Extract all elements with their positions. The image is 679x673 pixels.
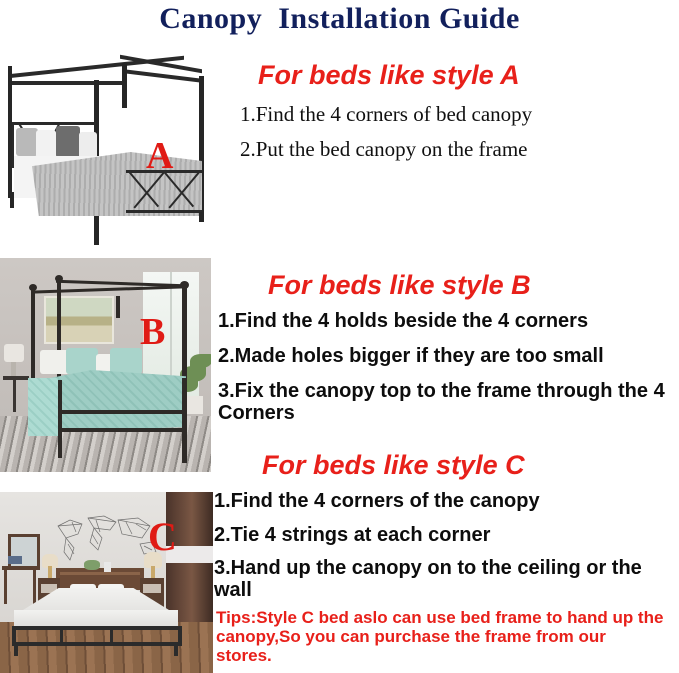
style-b-photo: B xyxy=(0,258,211,472)
style-a-photo: A xyxy=(0,52,215,257)
style-b-step-1: 1.Find the 4 holds beside the 4 corners xyxy=(218,310,588,333)
style-a-heading: For beds like style A xyxy=(258,60,520,91)
style-c-step-1: 1.Find the 4 corners of the canopy xyxy=(214,490,540,513)
style-a-step-2: 2.Put the bed canopy on the frame xyxy=(240,137,528,162)
style-c-tips: Tips:Style C bed aslo can use bed frame … xyxy=(216,608,666,665)
style-c-step-2: 2.Tie 4 strings at each corner xyxy=(214,524,490,547)
style-c-photo: C xyxy=(0,492,213,673)
style-c-badge: C xyxy=(148,517,177,557)
style-b-step-3: 3.Fix the canopy top to the frame throug… xyxy=(218,381,670,424)
style-b-step-2: 2.Made holes bigger if they are too smal… xyxy=(218,345,604,368)
style-a-badge: A xyxy=(146,137,173,175)
page-title: Canopy Installation Guide xyxy=(0,2,679,42)
style-b-badge: B xyxy=(140,313,165,351)
style-c-photo-art xyxy=(0,492,213,673)
style-b-heading: For beds like style B xyxy=(268,270,531,301)
style-a-photo-art xyxy=(0,52,215,257)
style-b-photo-art xyxy=(0,258,211,472)
style-c-heading: For beds like style C xyxy=(262,450,525,481)
style-c-step-3: 3.Hand up the canopy on to the ceiling o… xyxy=(214,558,666,601)
style-a-step-1: 1.Find the 4 corners of bed canopy xyxy=(240,102,532,127)
